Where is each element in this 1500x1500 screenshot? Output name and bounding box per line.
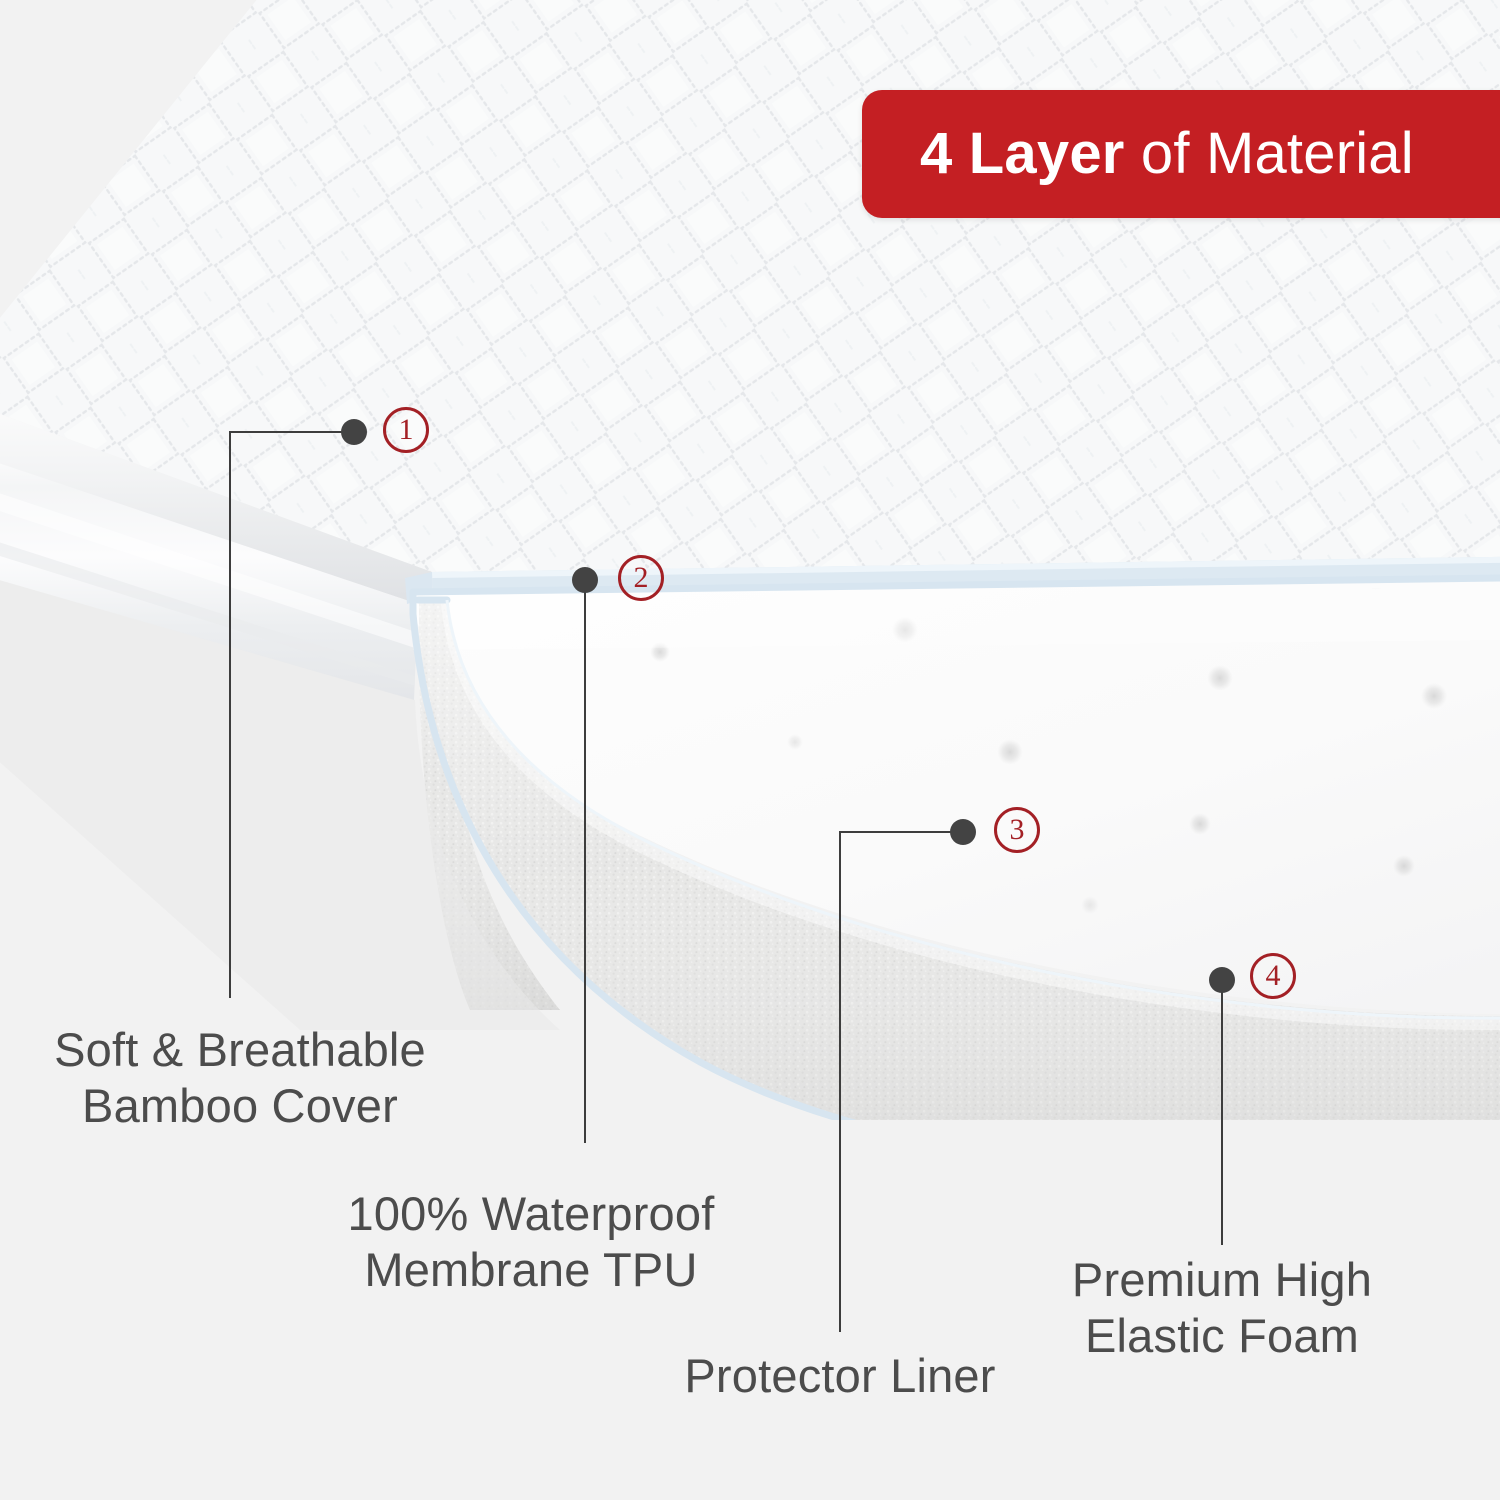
callout-leader-v-4: [1221, 980, 1223, 1245]
callout-marker-1: 1: [383, 407, 429, 453]
callout-leader-h-1: [229, 431, 347, 433]
banner-title: 4 Layer of Material: [920, 125, 1414, 183]
callout-number-1: 1: [399, 413, 414, 447]
callout-dot-4: [1209, 967, 1235, 993]
callout-label-2: 100% Waterproof Membrane TPU: [311, 1186, 751, 1299]
callout-dot-2: [572, 567, 598, 593]
callout-marker-4: 4: [1250, 953, 1296, 999]
callout-label-1: Soft & Breathable Bamboo Cover: [20, 1022, 460, 1135]
callout-leader-v-1: [229, 431, 231, 998]
callout-leader-v-2: [584, 580, 586, 1143]
infographic-canvas: 4 Layer of Material 1 Soft & Breathable …: [0, 0, 1500, 1500]
bamboo-cover-top: [0, 0, 1500, 572]
banner-bold-text: 4 Layer: [920, 121, 1125, 186]
callout-dot-3: [950, 819, 976, 845]
callout-number-4: 4: [1266, 959, 1281, 993]
banner-4-layer-of-material: 4 Layer of Material: [862, 90, 1500, 218]
callout-number-3: 3: [1010, 813, 1025, 847]
callout-marker-3: 3: [994, 807, 1040, 853]
callout-label-3: Protector Liner: [620, 1348, 1060, 1404]
callout-leader-v-3: [839, 831, 841, 1332]
callout-label-4: Premium High Elastic Foam: [1002, 1252, 1442, 1365]
callout-marker-2: 2: [618, 555, 664, 601]
banner-regular-text: of Material: [1125, 121, 1414, 186]
callout-dot-1: [341, 419, 367, 445]
callout-number-2: 2: [634, 561, 649, 595]
callout-leader-h-3: [839, 831, 956, 833]
